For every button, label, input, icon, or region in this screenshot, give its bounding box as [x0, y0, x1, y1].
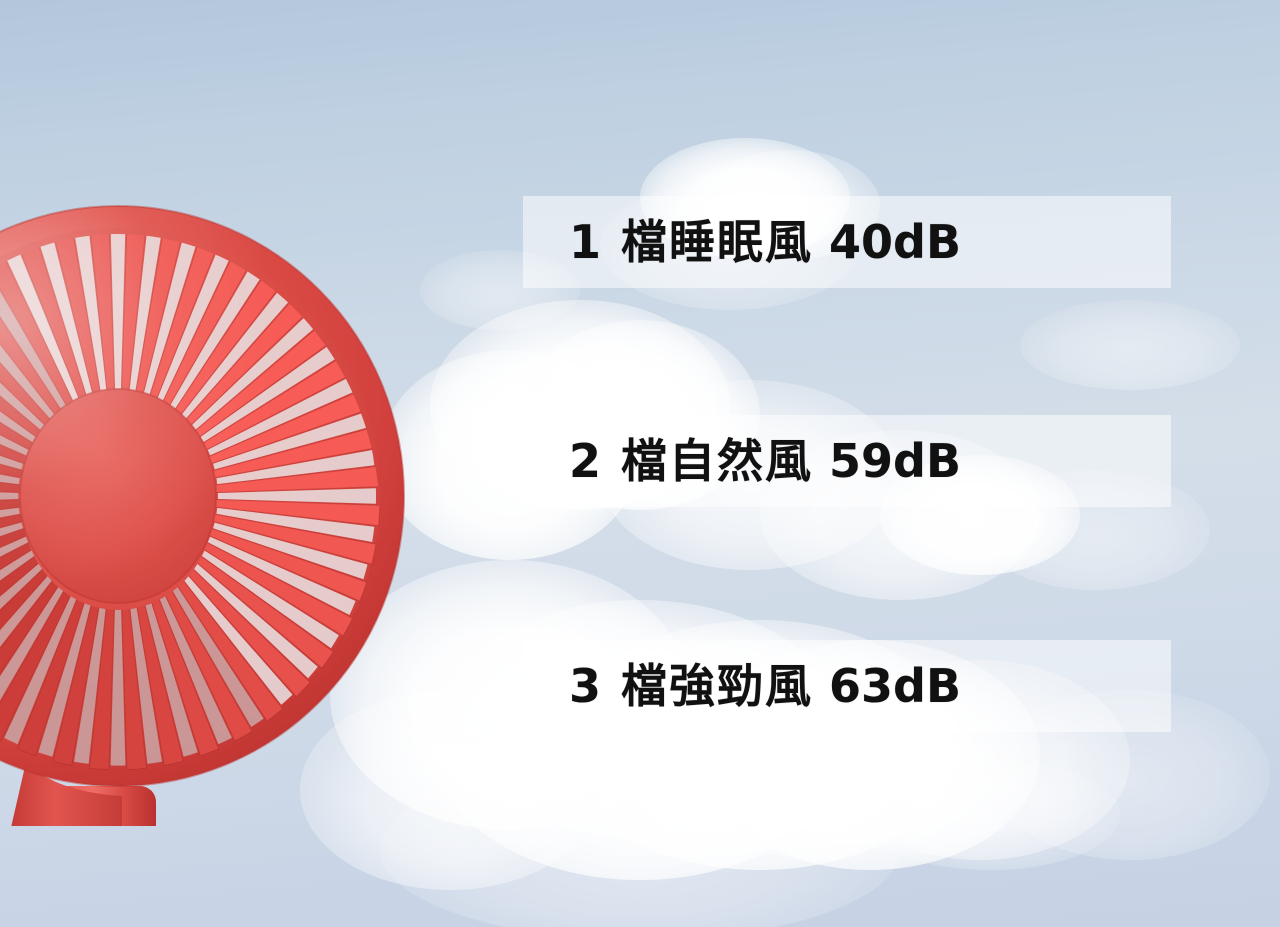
speed-label-3-noise: 63dB: [829, 659, 961, 713]
speed-label-2-text: 2 檔自然風59dB: [569, 438, 961, 484]
speed-label-3-text: 3 檔強勁風63dB: [569, 663, 961, 709]
speed-label-1-text: 1 檔睡眠風40dB: [569, 219, 961, 265]
speed-label-1-noise: 40dB: [829, 215, 961, 269]
speed-label-1-mode: 1 檔睡眠風: [569, 215, 813, 269]
cloud-low-h: [380, 760, 900, 927]
product-feature-banner: 1 檔睡眠風40dB 2 檔自然風59dB 3 檔強勁風63dB: [0, 0, 1280, 927]
speed-label-2-noise: 59dB: [829, 434, 961, 488]
speed-label-3: 3 檔強勁風63dB: [523, 640, 1171, 732]
fan-product-image: [0, 166, 448, 826]
fan-gloss-highlight: [0, 206, 404, 786]
speed-label-3-mode: 3 檔強勁風: [569, 659, 813, 713]
cloud-wisp-c: [860, 760, 1120, 870]
speed-label-2-mode: 2 檔自然風: [569, 434, 813, 488]
speed-label-1: 1 檔睡眠風40dB: [523, 196, 1171, 288]
cloud-wisp-a: [1020, 300, 1240, 390]
speed-label-2: 2 檔自然風59dB: [523, 415, 1171, 507]
